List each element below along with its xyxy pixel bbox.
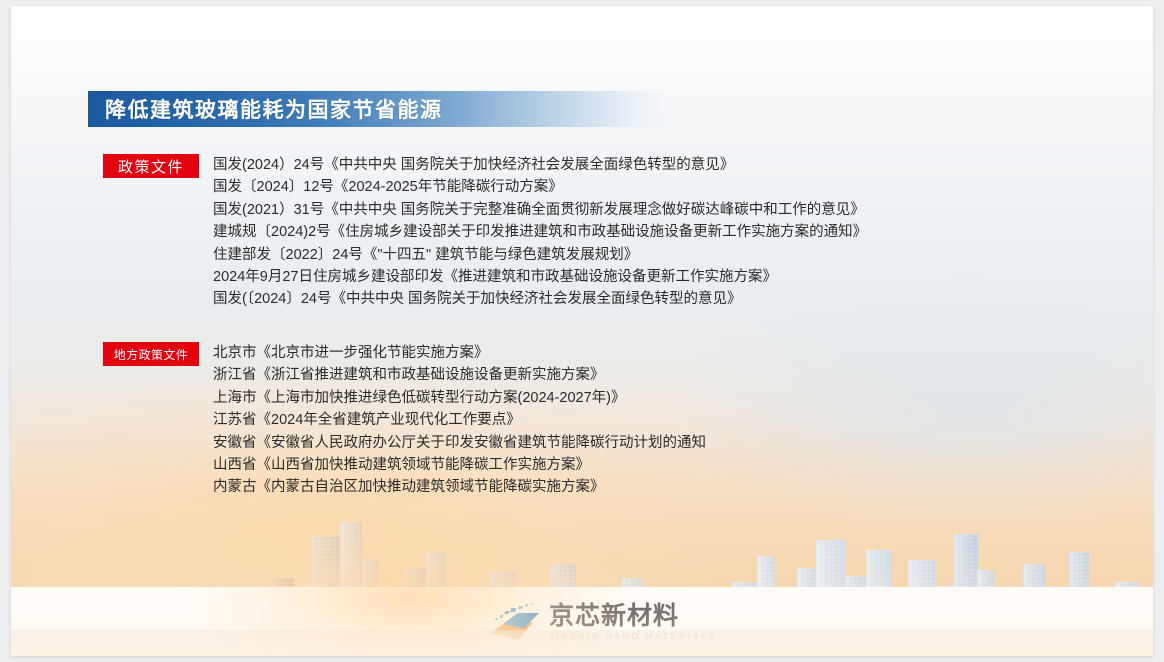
list-item: 浙江省《浙江省推进建筑和市政基础设施设备更新实施方案》 <box>213 364 1153 386</box>
list-item: 住建部发〔2022〕24号《"十四五" 建筑节能与绿色建筑发展规划》 <box>213 244 1153 266</box>
badge-local-policy: 地方政策文件 <box>103 342 199 366</box>
slide-frame: 降低建筑玻璃能耗为国家节省能源 政策文件 国发(2024）24号《中共中央 国务… <box>0 0 1164 662</box>
list-item: 上海市《上海市加快推进绿色低碳转型行动方案(2024-2027年)》 <box>213 387 1153 409</box>
city-skyline-image <box>11 496 1153 656</box>
list-item: 安徽省《安徽省人民政府办公厅关于印发安徽省建筑节能降碳行动计划的通知 <box>213 432 1153 454</box>
list-item: 国发(〔2024〕24号《中共中央 国务院关于加快经济社会发展全面绿色转型的意见… <box>213 288 1153 310</box>
list-item: 北京市《北京市进一步强化节能实施方案》 <box>213 342 1153 364</box>
badge-national-policy: 政策文件 <box>103 154 199 178</box>
slide-title-bar: 降低建筑玻璃能耗为国家节省能源 <box>88 91 668 127</box>
page-title: 降低建筑玻璃能耗为国家节省能源 <box>105 94 443 124</box>
local-policy-list: 北京市《北京市进一步强化节能实施方案》 浙江省《浙江省推进建筑和市政基础设施设备… <box>213 342 1153 499</box>
section-local-policy: 地方政策文件 北京市《北京市进一步强化节能实施方案》 浙江省《浙江省推进建筑和市… <box>103 342 199 366</box>
national-policy-list: 国发(2024）24号《中共中央 国务院关于加快经济社会发展全面绿色转型的意见》… <box>213 154 1153 311</box>
list-item: 2024年9月27日住房城乡建设部印发《推进建筑和市政基础设施设备更新工作实施方… <box>213 266 1153 288</box>
list-item: 国发(2024）24号《中共中央 国务院关于加快经济社会发展全面绿色转型的意见》 <box>213 154 1153 176</box>
list-item: 内蒙古《内蒙古自治区加快推动建筑领域节能降碳实施方案》 <box>213 476 1153 498</box>
list-item: 山西省《山西省加快推动建筑领域节能降碳工作实施方案》 <box>213 454 1153 476</box>
section-national-policy: 政策文件 国发(2024）24号《中共中央 国务院关于加快经济社会发展全面绿色转… <box>103 154 199 178</box>
list-item: 国发(2021）31号《中共中央 国务院关于完整准确全面贯彻新发展理念做好碳达峰… <box>213 199 1153 221</box>
slide-canvas: 降低建筑玻璃能耗为国家节省能源 政策文件 国发(2024）24号《中共中央 国务… <box>11 6 1153 656</box>
logo-name-cn: 京芯新材料 <box>549 603 717 629</box>
list-item: 江苏省《2024年全省建筑产业现代化工作要点》 <box>213 409 1153 431</box>
list-item: 建城规〔2024)2号《住房城乡建设部关于印发推进建筑和市政基础设施设备更新工作… <box>213 221 1153 243</box>
list-item: 国发〔2024〕12号《2024-2025年节能降碳行动方案》 <box>213 176 1153 198</box>
